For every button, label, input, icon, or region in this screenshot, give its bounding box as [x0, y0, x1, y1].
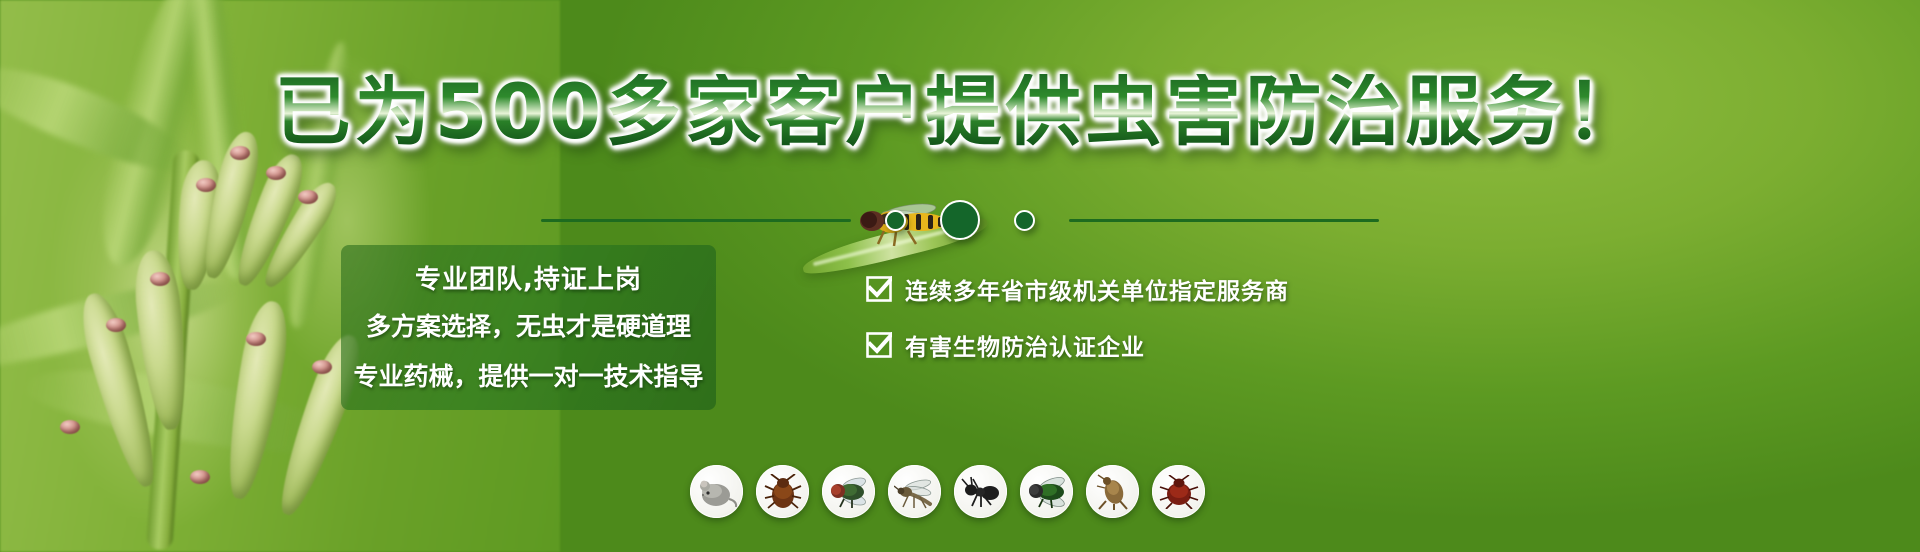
checklist-item-label: 连续多年省市级机关单位指定服务商 — [905, 272, 1289, 306]
selling-points-panel: 专业团队,持证上岗 多方案选择，无虫才是硬道理 专业药械，提供一对一技术指导 — [341, 245, 716, 410]
selling-point-line-2: 多方案选择，无虫才是硬道理 — [341, 307, 716, 343]
pest-control-hero-banner: 已为500多家客户提供虫害防治服务！ 专业团队,持证上岗 多方案选择，无虫才是硬… — [0, 0, 1920, 552]
decor-dot-small-right — [1014, 210, 1035, 231]
decor-dot-small-left — [885, 210, 906, 231]
decor-dot-large — [940, 200, 980, 240]
checkbox-checked-icon — [866, 332, 892, 358]
plant-bud — [196, 178, 216, 192]
selling-point-line-3: 专业药械，提供一对一技术指导 — [341, 357, 716, 393]
plant-bud — [190, 470, 210, 484]
bedbug-icon[interactable] — [1152, 465, 1205, 518]
mosquito-icon[interactable] — [888, 465, 941, 518]
ant-icon[interactable] — [954, 465, 1007, 518]
blowfly-icon[interactable] — [1020, 465, 1073, 518]
plant-bud — [106, 318, 126, 332]
divider-line-right — [1069, 219, 1379, 222]
cockroach-icon[interactable] — [756, 465, 809, 518]
flea-icon[interactable] — [1086, 465, 1139, 518]
checklist-item: 连续多年省市级机关单位指定服务商 — [866, 272, 1306, 306]
credentials-checklist: 连续多年省市级机关单位指定服务商 有害生物防治认证企业 — [866, 272, 1306, 384]
checklist-item-label: 有害生物防治认证企业 — [905, 328, 1145, 362]
plant-bud — [312, 360, 332, 374]
pest-icon-row — [690, 465, 1205, 518]
checklist-item: 有害生物防治认证企业 — [866, 328, 1306, 362]
plant-bud — [60, 420, 80, 434]
decorative-divider — [0, 200, 1920, 240]
checkbox-checked-icon — [866, 276, 892, 302]
mouse-icon[interactable] — [690, 465, 743, 518]
plant-bud — [246, 332, 266, 346]
plant-bud — [150, 272, 170, 286]
plant-bud — [266, 166, 286, 180]
divider-line-left — [541, 219, 851, 222]
housefly-icon[interactable] — [822, 465, 875, 518]
banner-headline: 已为500多家客户提供虫害防治服务！ — [0, 74, 1920, 150]
selling-point-line-1: 专业团队,持证上岗 — [341, 259, 716, 296]
